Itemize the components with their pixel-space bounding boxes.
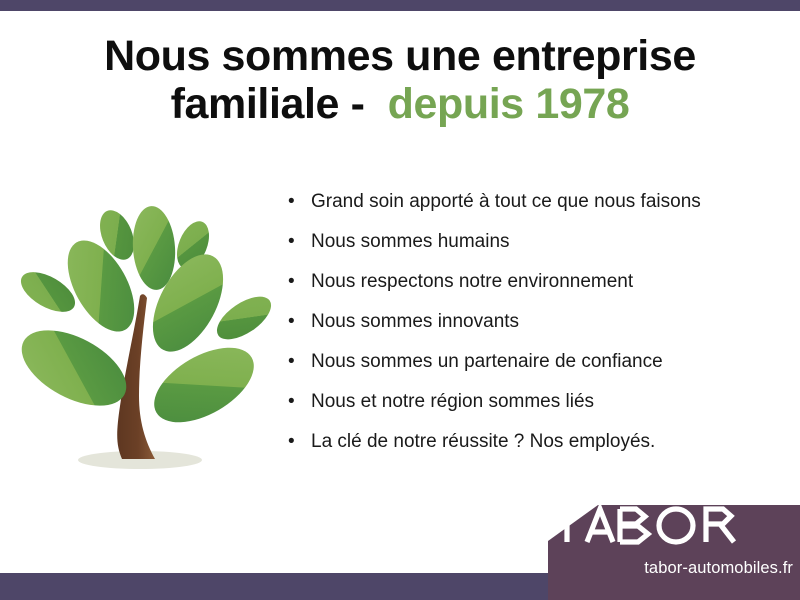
tree-icon bbox=[12, 193, 280, 491]
bullet-marker-icon: • bbox=[288, 232, 295, 253]
list-item: • Grand soin apporté à tout ce que nous … bbox=[286, 192, 756, 213]
list-item-label: Nous et notre région sommes liés bbox=[311, 391, 594, 412]
list-item: • Nous sommes innovants bbox=[286, 312, 756, 333]
list-item-label: Nous sommes humains bbox=[311, 231, 510, 252]
top-accent-band bbox=[0, 0, 800, 11]
bullet-marker-icon: • bbox=[288, 392, 295, 413]
list-item: • Nous sommes un partenaire de confiance bbox=[286, 352, 756, 373]
tabor-wordmark bbox=[548, 505, 744, 545]
list-item: • Nous respectons notre environnement bbox=[286, 272, 756, 293]
bullet-marker-icon: • bbox=[288, 352, 295, 373]
list-item: • La clé de notre réussite ? Nos employé… bbox=[286, 432, 756, 453]
logo-tagline: tabor-automobiles.fr bbox=[548, 559, 793, 578]
title-line-2: familiale - depuis 1978 bbox=[0, 80, 800, 128]
list-item: • Nous sommes humains bbox=[286, 232, 756, 253]
list-item-label: Nous respectons notre environnement bbox=[311, 271, 633, 292]
value-bullet-list: • Grand soin apporté à tout ce que nous … bbox=[286, 192, 756, 472]
list-item-label: Nous sommes innovants bbox=[311, 311, 519, 332]
page-title: Nous sommes une entreprise familiale - d… bbox=[0, 32, 800, 128]
title-line-1: Nous sommes une entreprise bbox=[0, 32, 800, 80]
list-item-label: La clé de notre réussite ? Nos employés. bbox=[311, 431, 655, 452]
tree-leaf bbox=[142, 332, 266, 437]
bullet-marker-icon: • bbox=[288, 432, 295, 453]
title-accent-text: depuis 1978 bbox=[388, 80, 630, 128]
slide-canvas: Nous sommes une entreprise familiale - d… bbox=[0, 0, 800, 600]
bullet-marker-icon: • bbox=[288, 192, 295, 213]
bullet-marker-icon: • bbox=[288, 312, 295, 333]
list-item: • Nous et notre région sommes liés bbox=[286, 392, 756, 413]
brand-logo-panel: tabor-automobiles.fr bbox=[548, 505, 800, 600]
tree-leaves bbox=[12, 205, 278, 438]
title-line-2-plain: familiale - bbox=[171, 80, 388, 128]
list-item-label: Nous sommes un partenaire de confiance bbox=[311, 351, 663, 372]
list-item-label: Grand soin apporté à tout ce que nous fa… bbox=[311, 191, 701, 212]
bullet-marker-icon: • bbox=[288, 272, 295, 293]
